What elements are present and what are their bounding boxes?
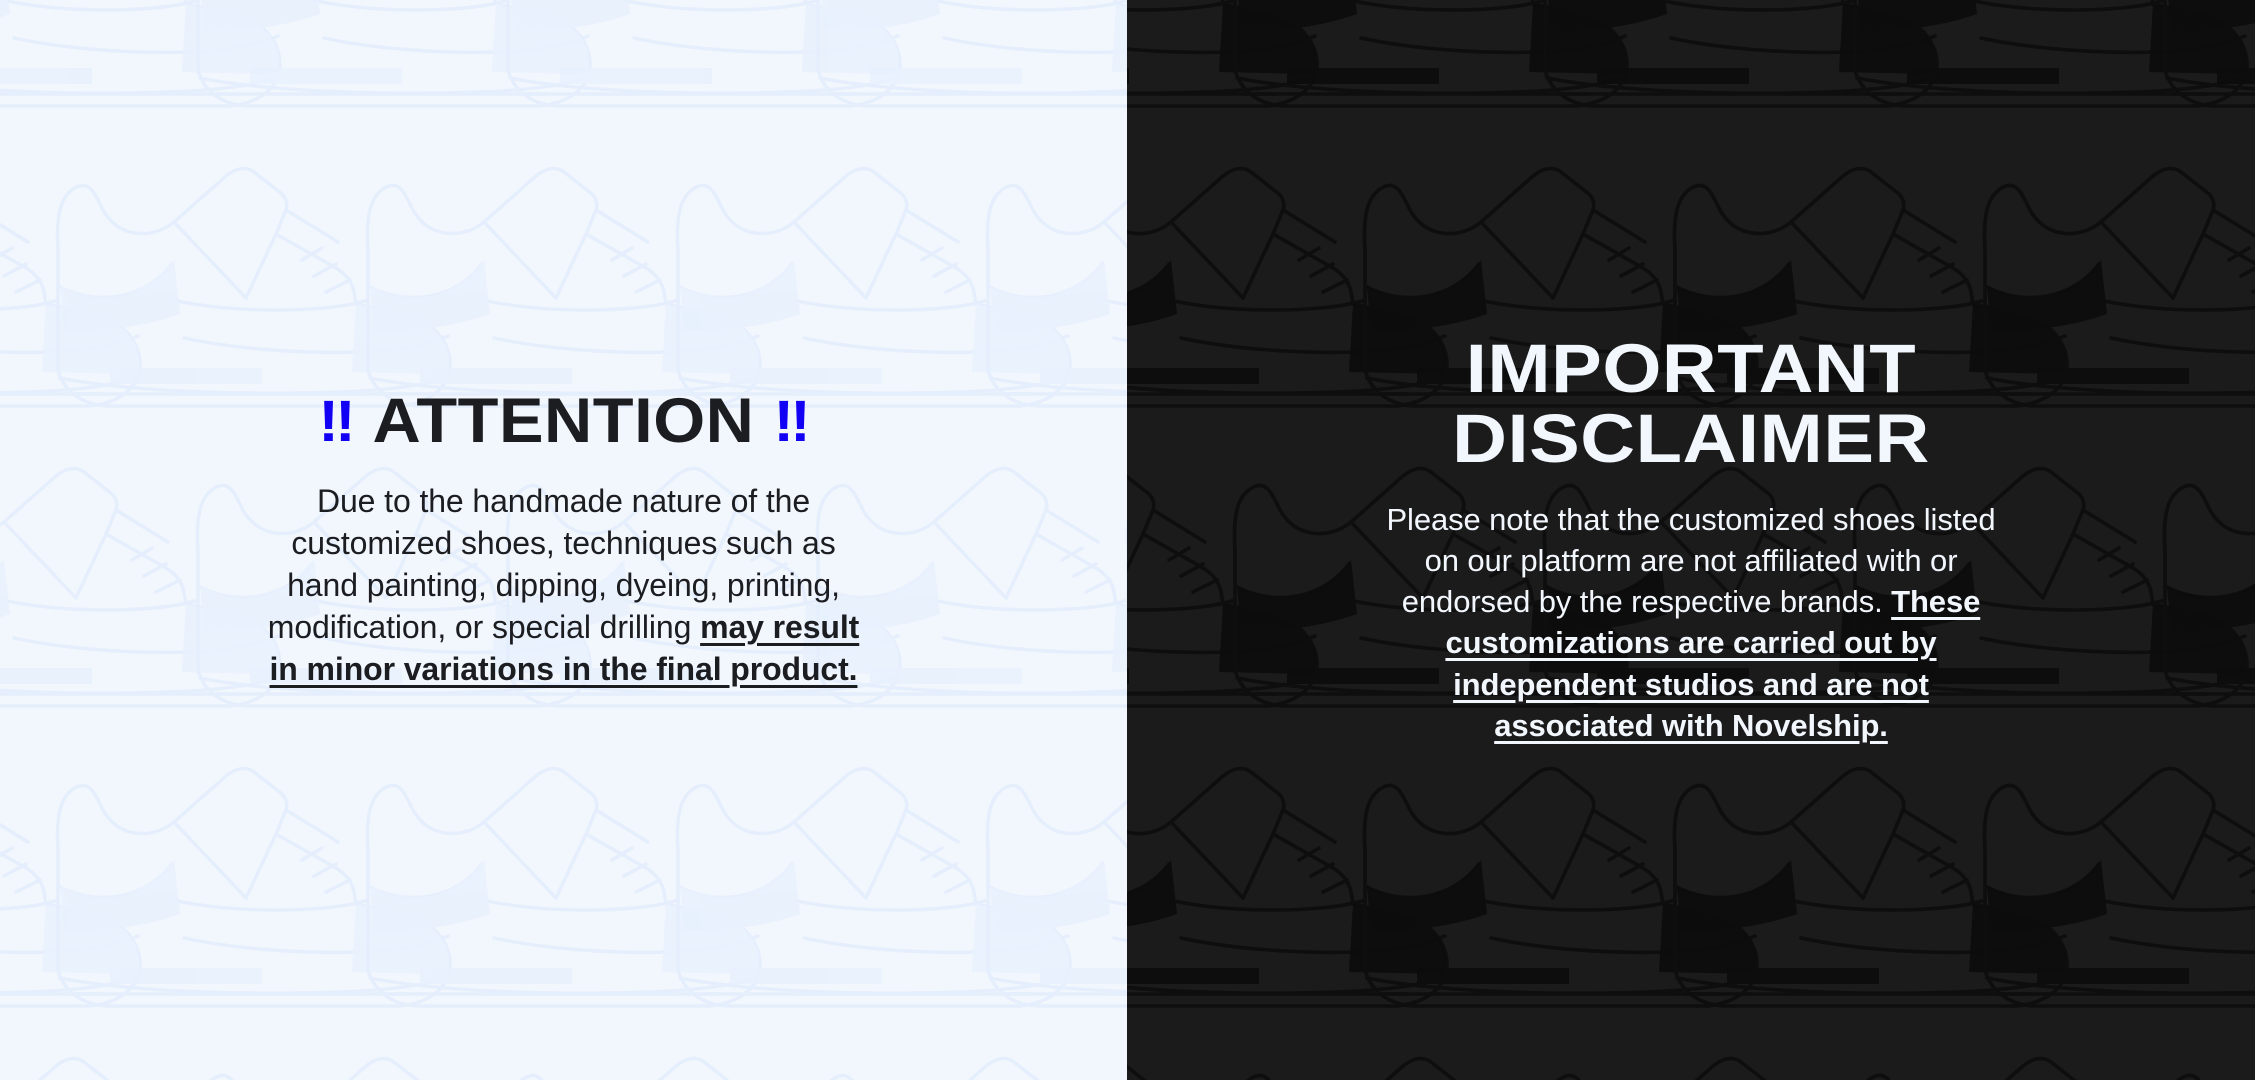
disclaimer-heading-line1: IMPORTANT	[1127, 334, 2255, 404]
attention-heading: ‼ATTENTION‼	[9, 389, 1119, 453]
disclaimer-content: IMPORTANT DISCLAIMER Please note that th…	[1127, 334, 2255, 746]
disclaimer-body-text: Please note that the customized shoes li…	[1371, 499, 2011, 746]
attention-panel: ‼ATTENTION‼ Due to the handmade nature o…	[0, 0, 1127, 1080]
disclaimer-banner: ‼ATTENTION‼ Due to the handmade nature o…	[0, 0, 2255, 1080]
double-exclamation-left-icon: ‼	[318, 389, 353, 454]
double-exclamation-right-icon: ‼	[774, 389, 809, 454]
disclaimer-heading: IMPORTANT DISCLAIMER	[1127, 334, 2255, 475]
attention-heading-word: ATTENTION	[353, 386, 773, 456]
disclaimer-heading-line2: DISCLAIMER	[1127, 404, 2255, 474]
disclaimer-panel: IMPORTANT DISCLAIMER Please note that th…	[1127, 0, 2255, 1080]
attention-content: ‼ATTENTION‼ Due to the handmade nature o…	[0, 389, 1127, 690]
attention-body-text: Due to the handmade nature of the custom…	[254, 480, 874, 691]
